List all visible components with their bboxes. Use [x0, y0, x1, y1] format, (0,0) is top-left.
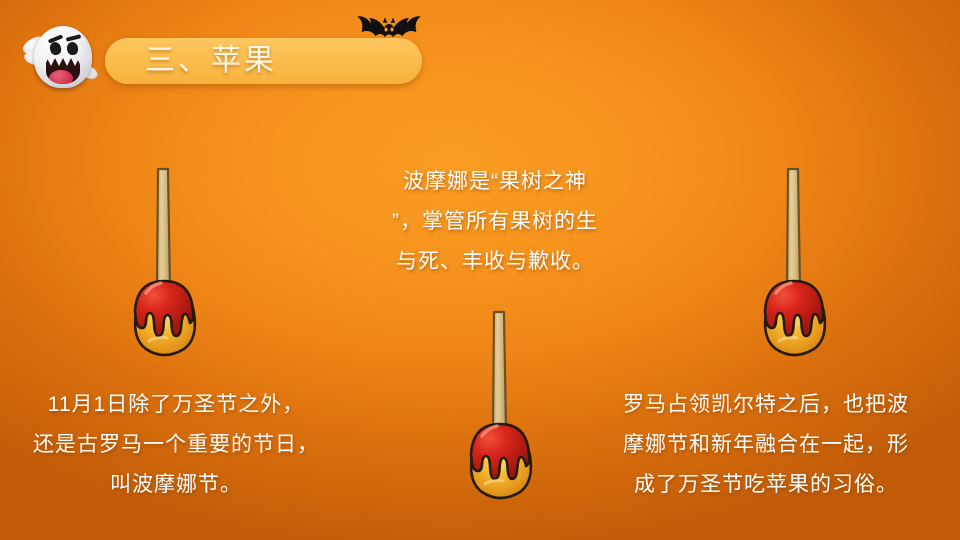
candy-apple-right: [746, 163, 842, 367]
paragraph-bottom-left: 11月1日除了万圣节之外， 还是古罗马一个重要的节日， 叫波摩娜节。: [6, 385, 346, 505]
page-title: 三、苹果: [0, 46, 422, 76]
slide-canvas: 三、苹果: [0, 0, 960, 540]
candy-apple-center: [452, 306, 548, 510]
paragraph-bottom-right: 罗马占领凯尔特之后，也把波 摩娜节和新年融合在一起，形 成了万圣节吃苹果的习俗。: [588, 385, 944, 505]
paragraph-top: 波摩娜是“果树之神 ”，掌管所有果树的生 与死、丰收与歉收。: [345, 162, 645, 282]
candy-apple-left: [116, 163, 212, 367]
